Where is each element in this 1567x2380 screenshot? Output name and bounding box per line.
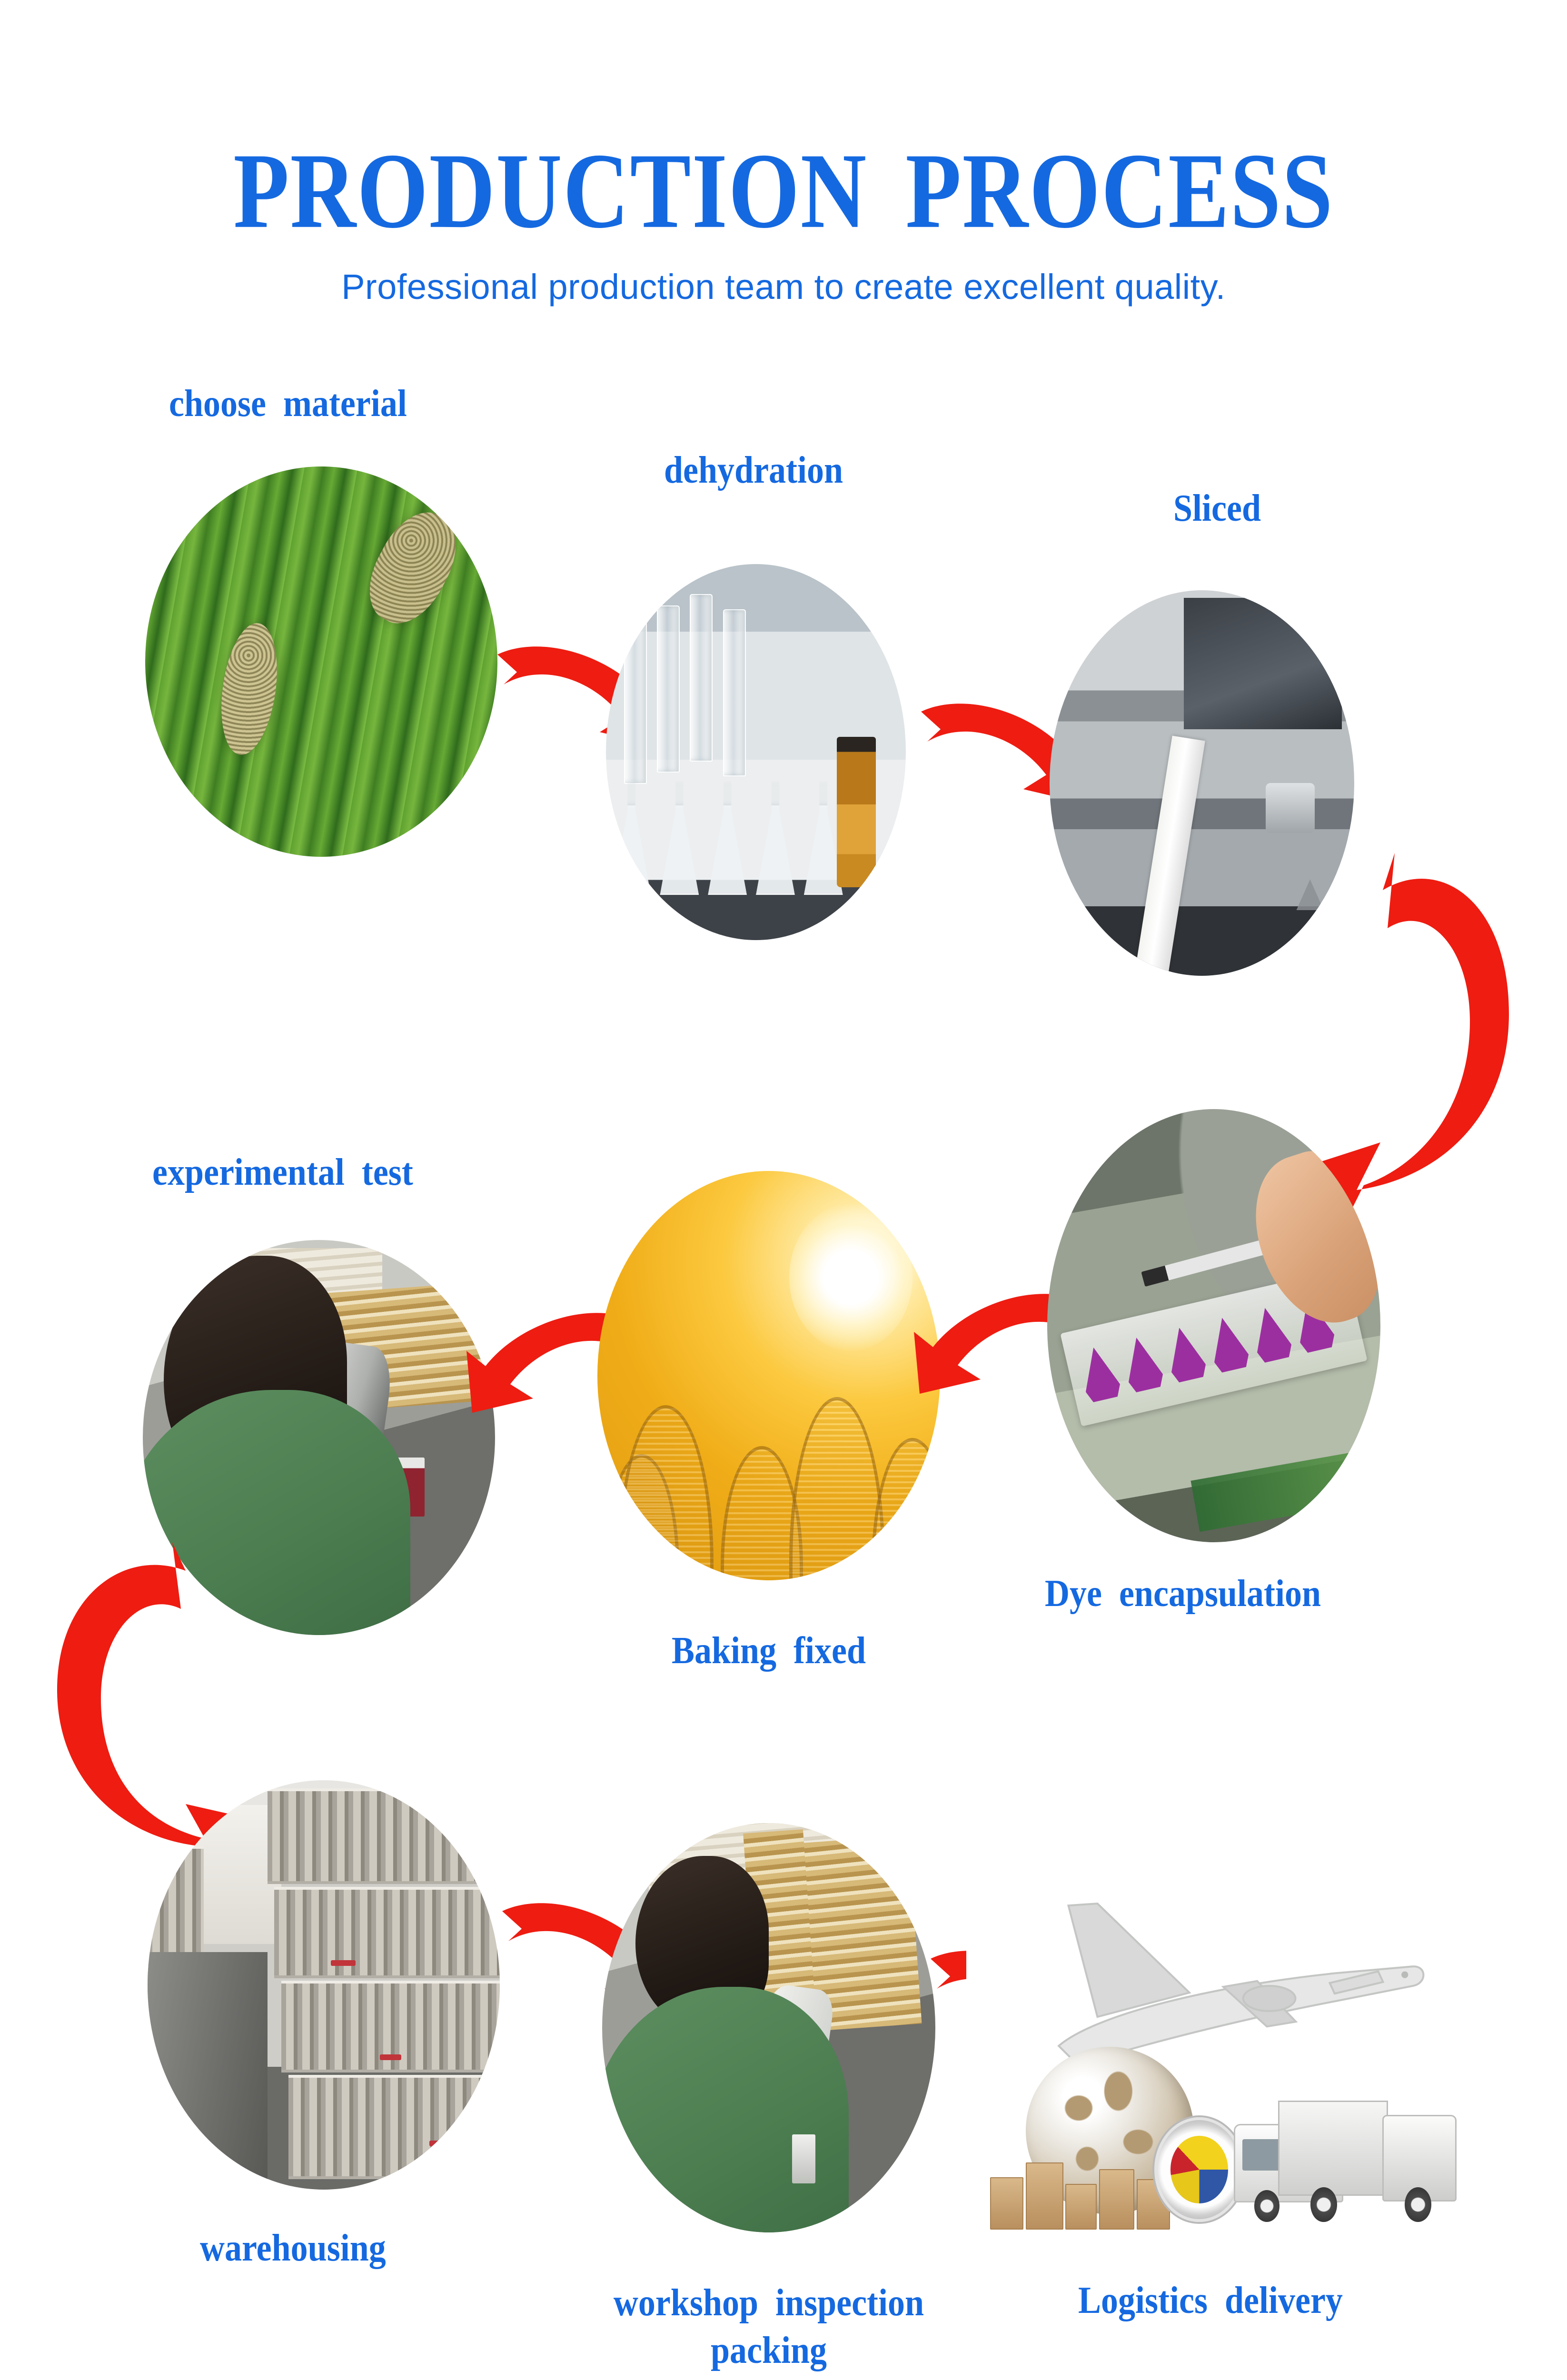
page-subtitle: Professional production team to create e… <box>0 267 1567 307</box>
step-image-choose-material <box>145 466 497 857</box>
step-image-dehydration <box>606 564 906 940</box>
step-label-packing: packing <box>555 2328 983 2373</box>
step-label-workshop-inspection: workshop inspection <box>555 2280 983 2325</box>
amber-reagent-bottle <box>837 737 876 887</box>
delivery-truck-icon <box>1278 2077 1456 2222</box>
step-image-warehousing <box>148 1780 500 2190</box>
reed-seed-head <box>214 620 285 759</box>
step-label-sliced: Sliced <box>1173 486 1261 531</box>
step-image-dye-encapsulation <box>1047 1109 1380 1542</box>
warehouse-shelving-photo <box>148 1780 500 2190</box>
page-title: PRODUCTION PROCESS <box>0 137 1567 245</box>
step-image-baking-fixed <box>597 1171 940 1580</box>
paper-strip <box>1135 735 1205 976</box>
green-reed-plants-photo <box>145 466 497 857</box>
laboratory-glassware-photo <box>606 564 906 940</box>
step-label-dehydration: dehydration <box>664 447 843 493</box>
step-label-baking-fixed: Baking fixed <box>597 1628 940 1673</box>
step-label-dye-encapsulation: Dye encapsulation <box>1045 1571 1321 1616</box>
step-label-logistics-delivery: Logistics delivery <box>1078 2278 1343 2323</box>
carton-boxes <box>986 2146 1184 2230</box>
step-image-logistics-delivery <box>966 1856 1461 2237</box>
dye-encapsulation-photo <box>1047 1109 1380 1542</box>
production-process-infographic: PRODUCTION PROCESS Professional producti… <box>0 0 1567 2380</box>
workshop-packing-photo <box>602 1823 935 2232</box>
step-label-experimental-test: experimental test <box>152 1150 413 1195</box>
step-label-choose-material: choose material <box>169 381 407 426</box>
baking-oven-photo <box>597 1171 940 1580</box>
clock-icon <box>1154 2117 1244 2222</box>
airplane-icon <box>996 1872 1431 2047</box>
step-label-warehousing: warehousing <box>200 2225 386 2271</box>
step-image-workshop-packing <box>602 1823 935 2232</box>
